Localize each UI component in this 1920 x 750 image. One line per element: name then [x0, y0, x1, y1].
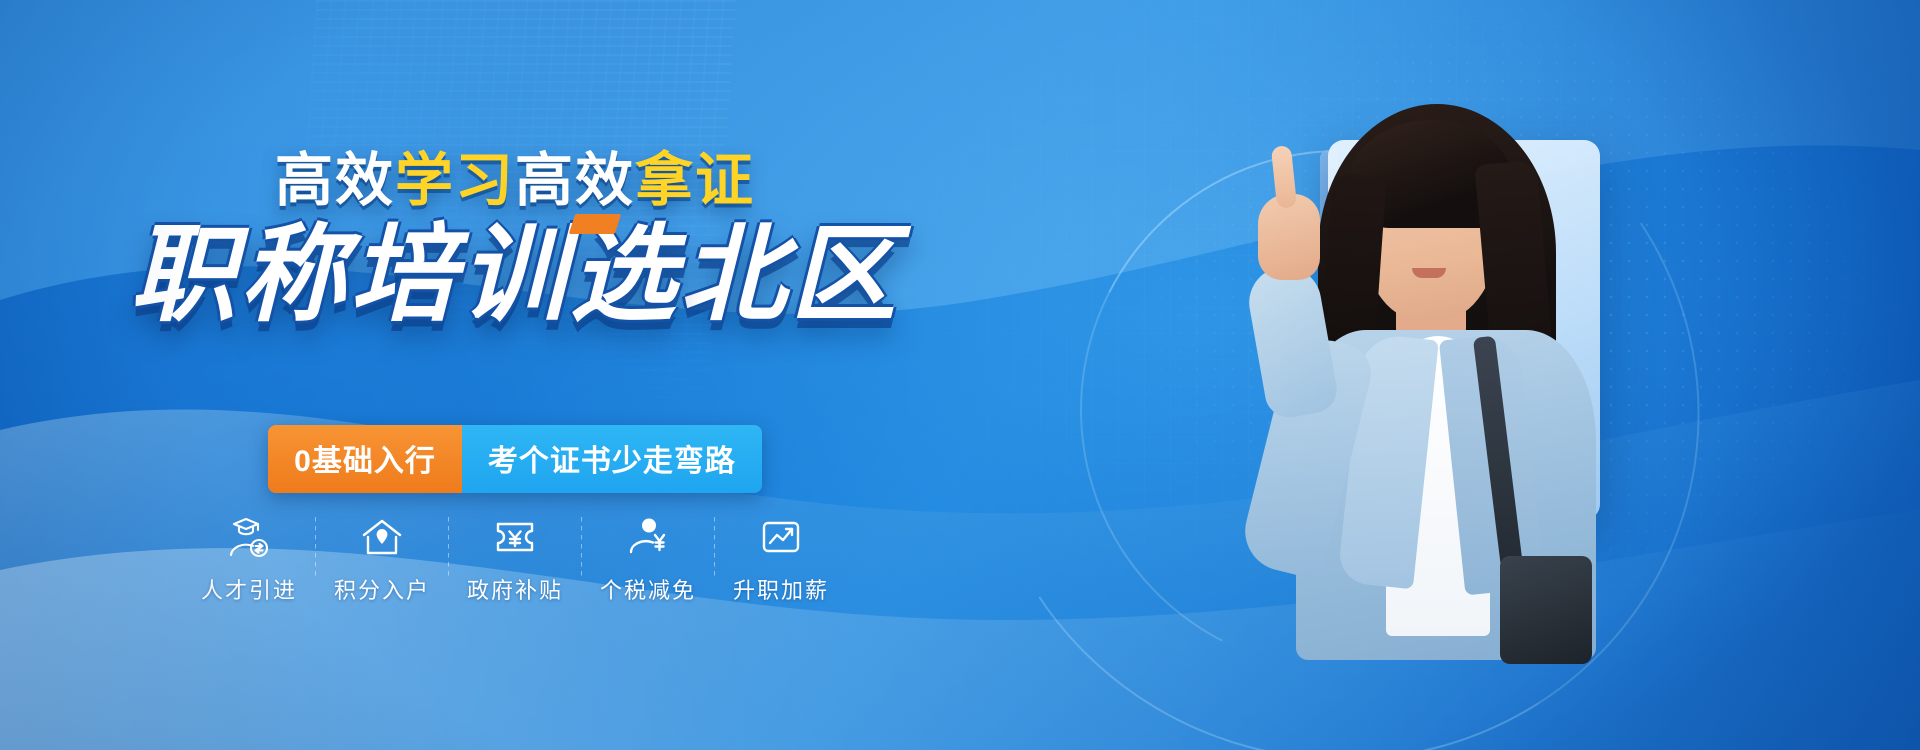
- model-bag: [1500, 556, 1592, 664]
- feature-list: 人才引进 积分入户: [0, 515, 1030, 605]
- person-yuan-icon: [627, 515, 669, 559]
- feature-item-promotion[interactable]: 升职加薪: [715, 515, 847, 605]
- headline-accent-char: 选: [570, 222, 680, 328]
- feature-label: 个税减免: [600, 573, 696, 605]
- headline-part-2: 北区: [680, 216, 900, 334]
- feature-item-tax[interactable]: 个税减免: [582, 515, 714, 605]
- tagline: 高效学习高效拿证: [0, 152, 1030, 210]
- pill-left-label[interactable]: 0基础入行: [268, 425, 462, 493]
- tagline-highlight-2: 拿证: [635, 148, 755, 213]
- feature-item-talent[interactable]: 人才引进: [183, 515, 315, 605]
- tagline-plain-2: 高效: [515, 148, 635, 213]
- feature-divider: [315, 517, 316, 579]
- benefit-pill[interactable]: 0基础入行 考个证书少走弯路: [0, 425, 1030, 493]
- feature-divider: [581, 517, 582, 579]
- banner-copy: 高效学习高效拿证 职称培训选北区 0基础入行 考个证书少走弯路: [0, 0, 1030, 750]
- feature-label: 升职加薪: [733, 573, 829, 605]
- feature-label: 政府补贴: [467, 573, 563, 605]
- tagline-plain-1: 高效: [275, 148, 395, 213]
- model-mouth: [1412, 268, 1446, 278]
- tagline-highlight-1: 学习: [395, 148, 515, 213]
- growth-chart-icon: [760, 515, 802, 559]
- model-illustration: [1200, 86, 1670, 646]
- headline: 职称培训选北区: [0, 222, 1030, 328]
- model-photo-area: [1020, 0, 1920, 750]
- graduate-person-icon: [228, 515, 270, 559]
- feature-divider: [448, 517, 449, 579]
- promo-banner: 高效学习高效拿证 职称培训选北区 0基础入行 考个证书少走弯路: [0, 0, 1920, 750]
- house-pin-icon: [360, 515, 404, 559]
- voucher-yuan-icon: [493, 515, 537, 559]
- pill-right-label[interactable]: 考个证书少走弯路: [462, 425, 762, 493]
- feature-item-subsidy[interactable]: 政府补贴: [449, 515, 581, 605]
- feature-label: 积分入户: [334, 573, 430, 605]
- feature-item-residency[interactable]: 积分入户: [316, 515, 448, 605]
- feature-label: 人才引进: [201, 573, 297, 605]
- headline-part-1: 职称培训: [130, 216, 570, 334]
- feature-divider: [714, 517, 715, 579]
